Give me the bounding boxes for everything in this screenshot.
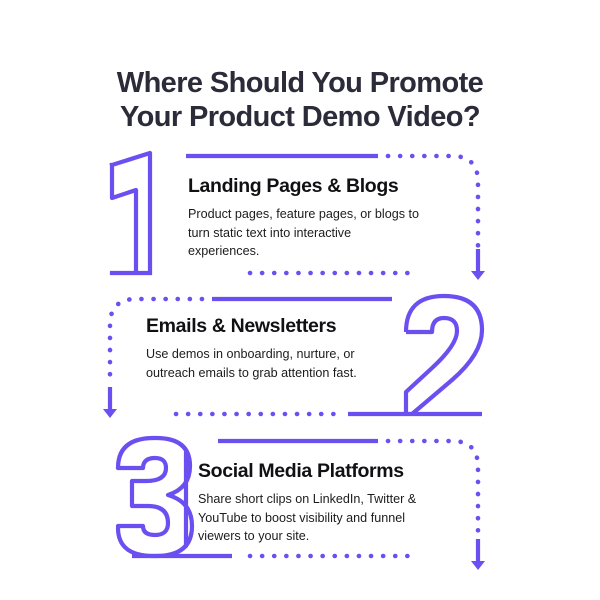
step-item-2: Emails & Newsletters Use demos in onboar… <box>0 288 600 433</box>
page-title-line-2: Your Product Demo Video? <box>60 101 540 135</box>
step-1-body: Product pages, feature pages, or blogs t… <box>188 205 419 261</box>
infographic-canvas: Where Should You Promote Your Product De… <box>0 0 600 600</box>
numeral-3-outline <box>118 438 192 556</box>
numeral-3-inner <box>118 458 168 535</box>
page-title: Where Should You Promote Your Product De… <box>0 67 600 135</box>
step-item-3: Social Media Platforms Share short clips… <box>0 430 600 580</box>
step-1-arrow-head-right <box>471 271 485 280</box>
step-3-arrow-head-right <box>471 561 485 570</box>
numeral-1-outline <box>112 153 150 273</box>
step-3-body: Share short clips on LinkedIn, Twitter &… <box>198 490 416 546</box>
step-3-text: Social Media Platforms Share short clips… <box>198 460 416 546</box>
page-title-line-1: Where Should You Promote <box>60 67 540 101</box>
step-1-heading: Landing Pages & Blogs <box>188 175 419 198</box>
step-3-heading: Social Media Platforms <box>198 460 416 483</box>
step-1-text: Landing Pages & Blogs Product pages, fea… <box>188 175 419 261</box>
step-2-heading: Emails & Newsletters <box>146 315 357 338</box>
step-2-body: Use demos in onboarding, nurture, or out… <box>146 345 357 382</box>
step-2-text: Emails & Newsletters Use demos in onboar… <box>146 315 357 382</box>
step-2-arrow-head-left <box>103 409 117 418</box>
step-item-1: Landing Pages & Blogs Product pages, fea… <box>0 145 600 290</box>
